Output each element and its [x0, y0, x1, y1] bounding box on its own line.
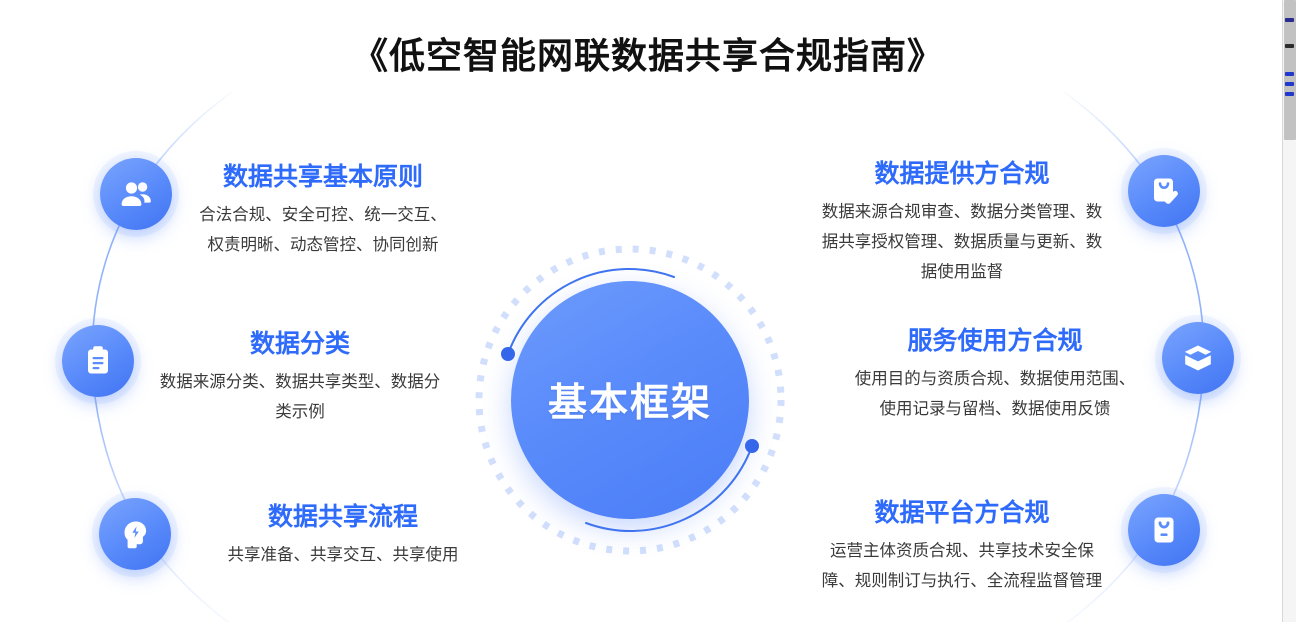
infographic-canvas: 《低空智能网联数据共享合规指南》 基本框架 数据共享基本原 [0, 0, 1296, 622]
branch-item-classification[interactable]: 数据分类 数据来源分类、数据共享类型、数据分类示例 [62, 325, 444, 427]
branch-item-process[interactable]: 数据共享流程 共享准备、共享交互、共享使用 [99, 498, 493, 570]
branch-text-process: 数据共享流程 共享准备、共享交互、共享使用 [193, 498, 493, 570]
branch-desc: 使用目的与资质合规、数据使用范围、使用记录与留档、数据使用反馈 [850, 364, 1140, 424]
branch-title: 数据共享基本原则 [194, 160, 452, 194]
branch-title: 数据分类 [156, 327, 444, 361]
scrollbar-marker-3 [1285, 72, 1294, 76]
branch-text-principles: 数据共享基本原则 合法合规、安全可控、统一交互、权责明晰、动态管控、协同创新 [194, 158, 452, 260]
hub-arc-dot-bottom [745, 439, 759, 453]
branch-item-principles[interactable]: 数据共享基本原则 合法合规、安全可控、统一交互、权责明晰、动态管控、协同创新 [100, 158, 452, 260]
scrollbar-marker-2 [1285, 44, 1294, 48]
branch-desc: 数据来源分类、数据共享类型、数据分类示例 [156, 367, 444, 427]
branch-title: 数据平台方合规 [818, 496, 1106, 530]
scrollbar-marker-1 [1285, 18, 1294, 22]
head-bolt-icon [99, 498, 171, 570]
vertical-scrollbar[interactable] [1282, 0, 1296, 622]
branch-item-platform[interactable]: 数据平台方合规 运营主体资质合规、共享技术安全保障、规则制订与执行、全流程监督管… [818, 494, 1200, 596]
branch-item-provider[interactable]: 数据提供方合规 数据来源合规审查、数据分类管理、数据共享授权管理、数据质量与更新… [818, 155, 1200, 287]
branch-desc: 运营主体资质合规、共享技术安全保障、规则制订与执行、全流程监督管理 [818, 536, 1106, 596]
clipboard-check-icon [1128, 155, 1200, 227]
open-box-icon [1162, 322, 1234, 394]
clipboard-lines-icon [62, 325, 134, 397]
branch-text-user: 服务使用方合规 使用目的与资质合规、数据使用范围、使用记录与留档、数据使用反馈 [850, 322, 1140, 424]
branch-title: 服务使用方合规 [850, 324, 1140, 358]
users-icon [100, 158, 172, 230]
center-hub: 基本框架 [468, 238, 792, 562]
scrollbar-marker-5 [1285, 92, 1294, 96]
branch-text-platform: 数据平台方合规 运营主体资质合规、共享技术安全保障、规则制订与执行、全流程监督管… [818, 494, 1106, 596]
branch-desc: 合法合规、安全可控、统一交互、权责明晰、动态管控、协同创新 [194, 200, 452, 260]
document-face-icon [1128, 494, 1200, 566]
branch-text-classification: 数据分类 数据来源分类、数据共享类型、数据分类示例 [156, 325, 444, 427]
page-title: 《低空智能网联数据共享合规指南》 [0, 32, 1296, 80]
branch-title: 数据提供方合规 [818, 157, 1106, 191]
hub-arc-dot-top [501, 347, 515, 361]
branch-text-provider: 数据提供方合规 数据来源合规审查、数据分类管理、数据共享授权管理、数据质量与更新… [818, 155, 1106, 287]
branch-desc: 数据来源合规审查、数据分类管理、数据共享授权管理、数据质量与更新、数据使用监督 [818, 197, 1106, 287]
branch-item-user[interactable]: 服务使用方合规 使用目的与资质合规、数据使用范围、使用记录与留档、数据使用反馈 [850, 322, 1234, 424]
branch-title: 数据共享流程 [193, 500, 493, 534]
hub-label: 基本框架 [548, 372, 712, 428]
branch-desc: 共享准备、共享交互、共享使用 [193, 540, 493, 570]
scrollbar-marker-4 [1285, 82, 1294, 86]
hub-circle[interactable]: 基本框架 [511, 281, 749, 519]
